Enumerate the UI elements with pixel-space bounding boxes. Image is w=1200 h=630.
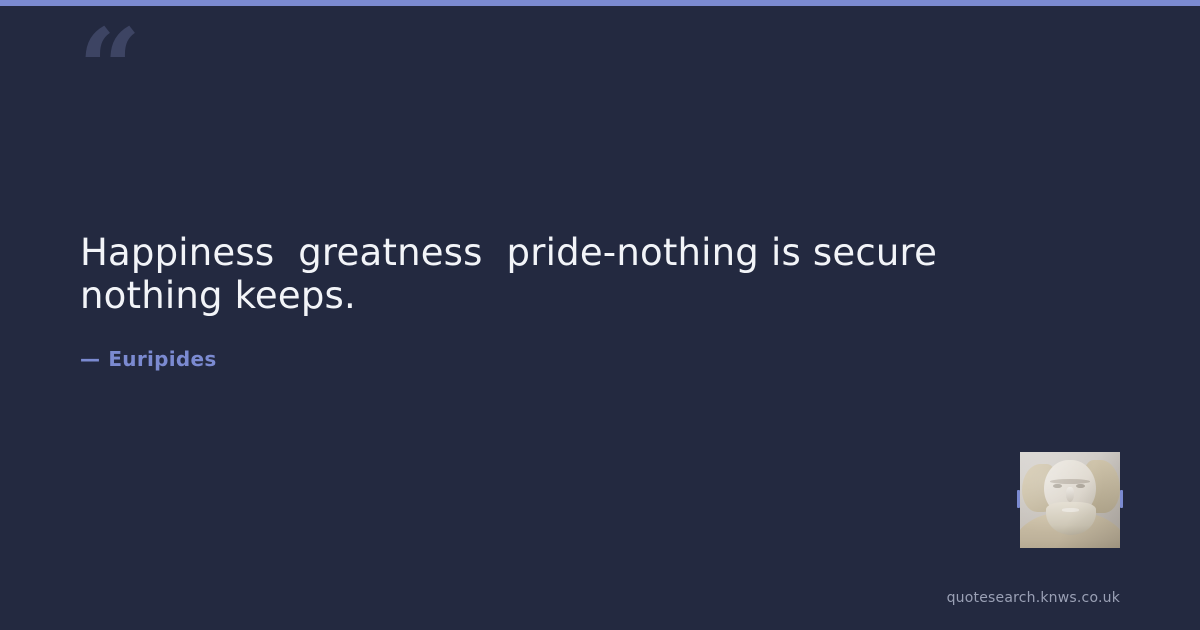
portrait-accent-tick-right [1120,490,1123,508]
portrait-accent-tick-left [1017,490,1020,508]
quote-text: Happiness greatness pride-nothing is sec… [80,232,960,317]
author-portrait-image [1020,452,1120,548]
quote-attribution: —Euripides [80,317,960,371]
attribution-dash: — [80,347,100,371]
open-quote-icon: “ [78,14,139,124]
quote-card: “ Happiness greatness pride-nothing is s… [0,0,1200,630]
portrait-shading [1020,452,1120,548]
author-portrait [1020,452,1120,548]
site-watermark: quotesearch.knws.co.uk [947,590,1120,606]
attribution-author: Euripides [108,347,216,371]
quote-block: Happiness greatness pride-nothing is sec… [80,232,960,371]
top-accent-bar [0,0,1200,6]
